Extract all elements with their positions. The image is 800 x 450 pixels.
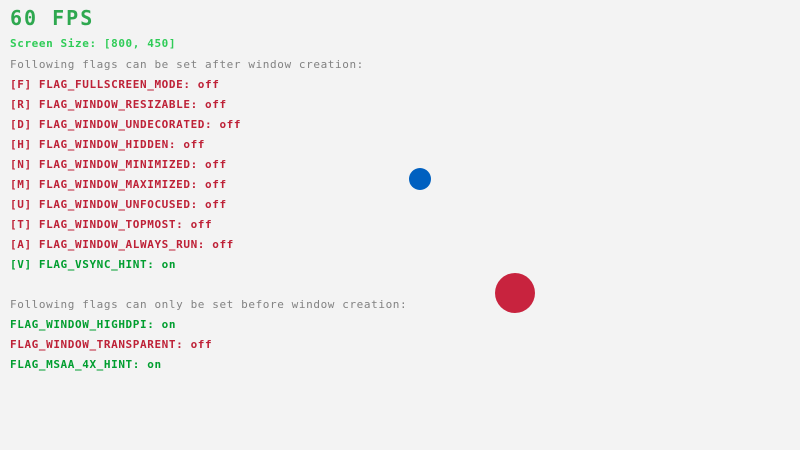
flag-row-fullscreen-mode[interactable]: [F] FLAG_FULLSCREEN_MODE: off: [10, 78, 219, 91]
flag-row-window-transparent: FLAG_WINDOW_TRANSPARENT: off: [10, 338, 212, 351]
fps-counter: 60 FPS: [10, 6, 94, 30]
flag-row-msaa-4x-hint: FLAG_MSAA_4X_HINT: on: [10, 358, 162, 371]
flag-row-window-undecorated[interactable]: [D] FLAG_WINDOW_UNDECORATED: off: [10, 118, 241, 131]
blue-ball-shape: [409, 168, 431, 190]
red-ball-shape: [495, 273, 535, 313]
screen-size-label: Screen Size: [800, 450]: [10, 37, 176, 50]
section-header-after-creation: Following flags can be set after window …: [10, 58, 364, 71]
flag-row-window-highdpi: FLAG_WINDOW_HIGHDPI: on: [10, 318, 176, 331]
flag-row-vsync-hint[interactable]: [V] FLAG_VSYNC_HINT: on: [10, 258, 176, 271]
flag-row-window-resizable[interactable]: [R] FLAG_WINDOW_RESIZABLE: off: [10, 98, 227, 111]
flag-row-window-minimized[interactable]: [N] FLAG_WINDOW_MINIMIZED: off: [10, 158, 227, 171]
flag-row-window-topmost[interactable]: [T] FLAG_WINDOW_TOPMOST: off: [10, 218, 212, 231]
flag-row-window-always-run[interactable]: [A] FLAG_WINDOW_ALWAYS_RUN: off: [10, 238, 234, 251]
flag-row-window-hidden[interactable]: [H] FLAG_WINDOW_HIDDEN: off: [10, 138, 205, 151]
section-header-before-creation: Following flags can only be set before w…: [10, 298, 407, 311]
raylib-window-canvas[interactable]: 60 FPS Screen Size: [800, 450] Following…: [0, 0, 800, 450]
flag-row-window-maximized[interactable]: [M] FLAG_WINDOW_MAXIMIZED: off: [10, 178, 227, 191]
flag-row-window-unfocused[interactable]: [U] FLAG_WINDOW_UNFOCUSED: off: [10, 198, 227, 211]
